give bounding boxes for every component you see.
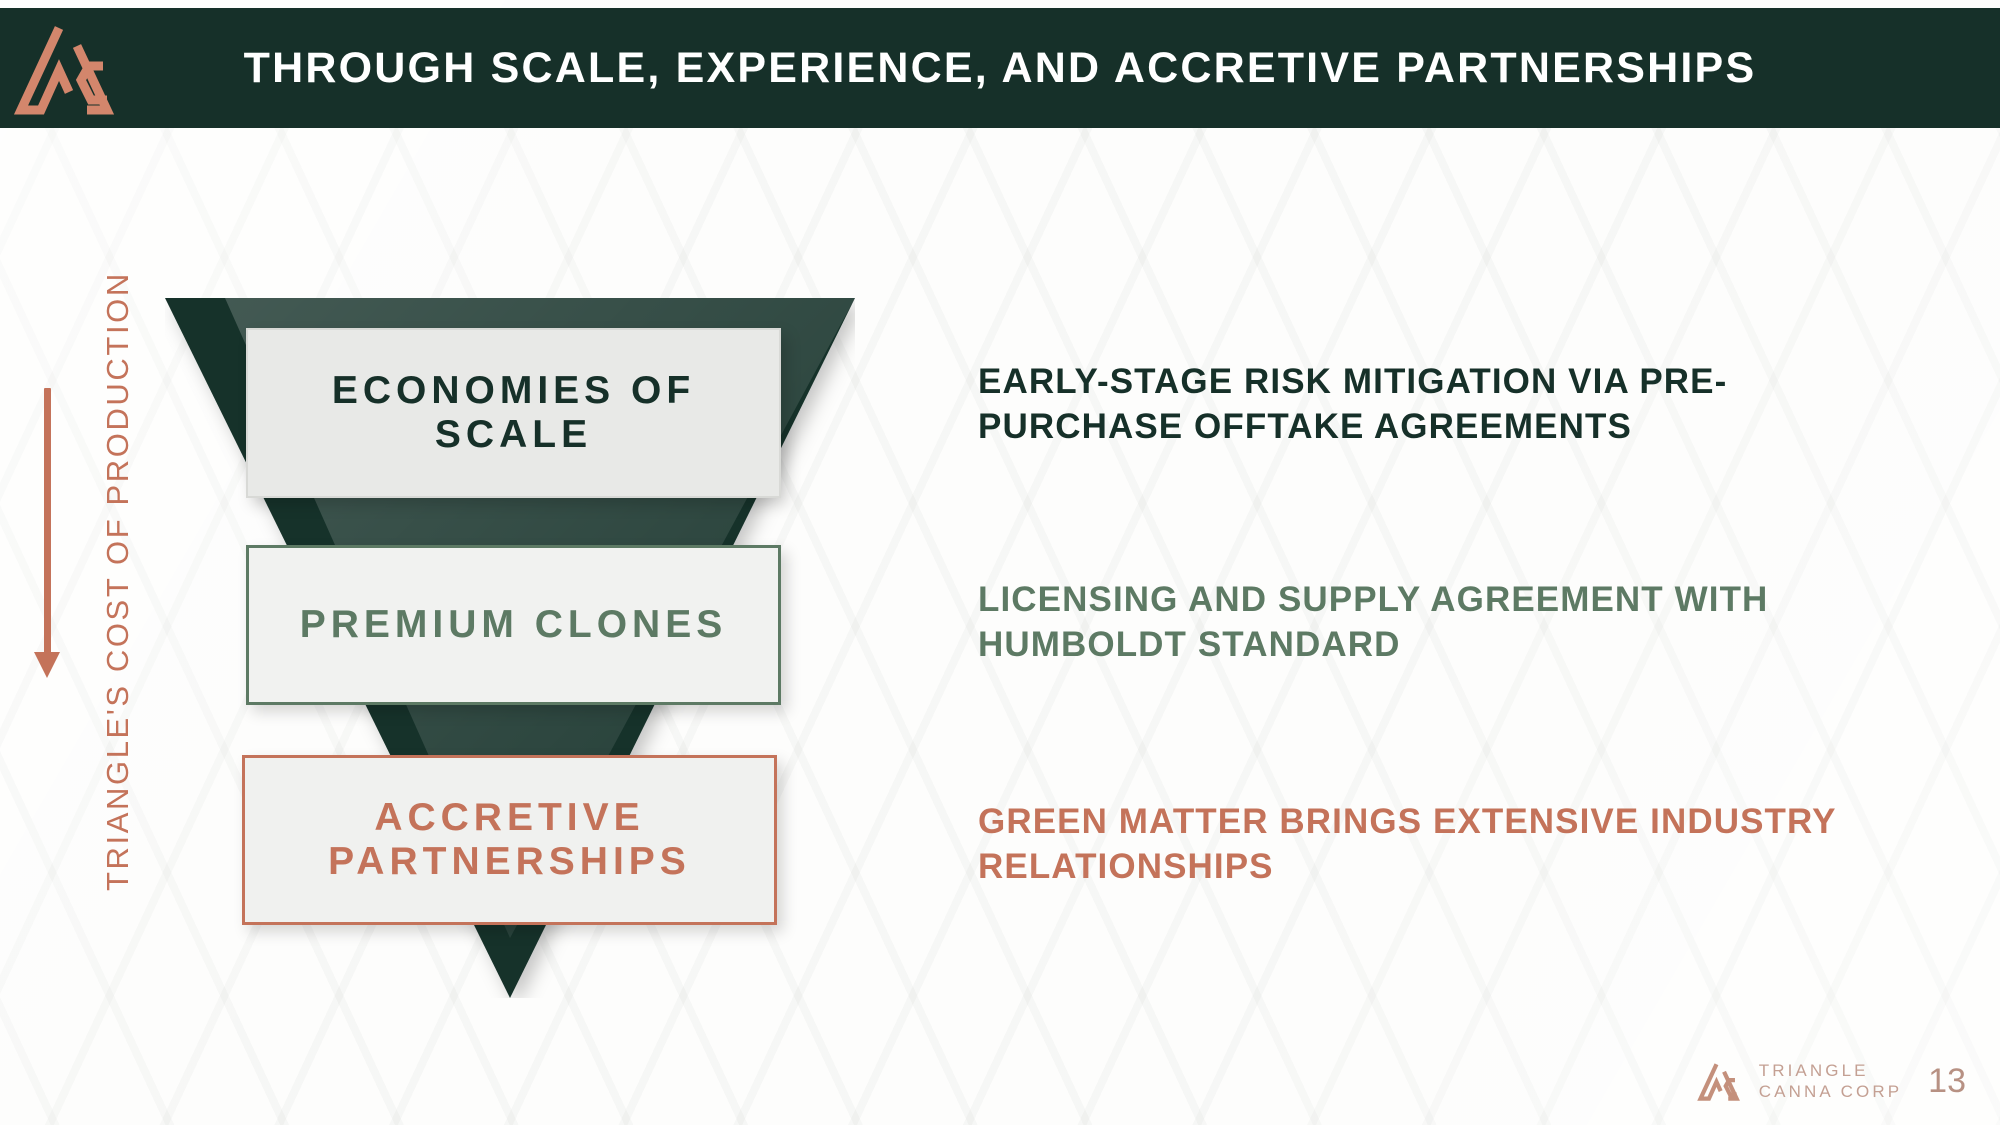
cost-of-production-axis: TRIANGLE'S COST OF PRODUCTION [28, 388, 188, 688]
slide-canvas: THROUGH SCALE, EXPERIENCE, AND ACCRETIVE… [0, 0, 2000, 1125]
triangle-canna-monogram-icon [1695, 1060, 1743, 1102]
triangle-canna-monogram-icon [0, 8, 130, 128]
slide-footer: TRIANGLE CANNA CORP 13 [1695, 1060, 1966, 1104]
callout-accretive-partnerships: GREEN MATTER BRINGS EXTENSIVE INDUSTRY R… [978, 800, 1878, 890]
axis-line [44, 388, 51, 660]
funnel-stage-economies-of-scale[interactable]: ECONOMIES OF SCALE [246, 328, 781, 498]
funnel-stage-premium-clones[interactable]: PREMIUM CLONES [246, 545, 781, 705]
slide-header: THROUGH SCALE, EXPERIENCE, AND ACCRETIVE… [0, 8, 2000, 128]
axis-label: TRIANGLE'S COST OF PRODUCTION [100, 371, 136, 891]
funnel-stage-label: ACCRETIVE PARTNERSHIPS [245, 796, 774, 883]
page-title: THROUGH SCALE, EXPERIENCE, AND ACCRETIVE… [130, 44, 2000, 93]
callout-economies-of-scale: EARLY-STAGE RISK MITIGATION VIA PRE-PURC… [978, 360, 1878, 450]
footer-wordmark: TRIANGLE CANNA CORP [1759, 1060, 1902, 1104]
footer-wordmark-line2: CANNA CORP [1759, 1081, 1902, 1103]
funnel-stage-accretive-partnerships[interactable]: ACCRETIVE PARTNERSHIPS [242, 755, 777, 925]
funnel-stage-label: ECONOMIES OF SCALE [248, 369, 779, 456]
callout-premium-clones: LICENSING AND SUPPLY AGREEMENT WITH HUMB… [978, 578, 1878, 668]
footer-wordmark-line1: TRIANGLE [1759, 1060, 1902, 1082]
down-arrow-icon [34, 652, 60, 678]
funnel-stage-label: PREMIUM CLONES [300, 603, 728, 647]
page-number: 13 [1928, 1062, 1966, 1101]
